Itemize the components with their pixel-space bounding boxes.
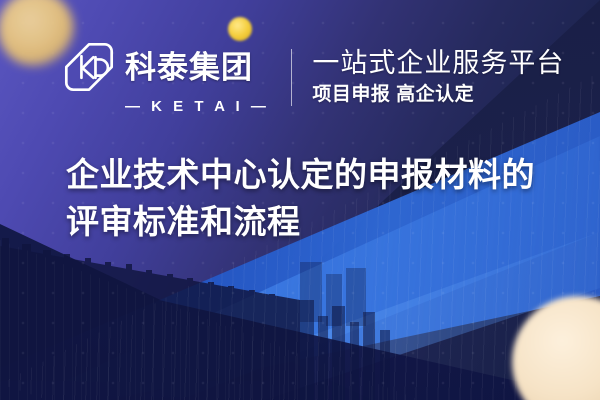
- promotional-banner: 科泰集团 — K E T A I — 一站式企业服务平台 项目申报 高企认定 企…: [0, 0, 600, 400]
- gold-dot-circle-icon: [228, 17, 252, 41]
- brand-name-en: — K E T A I —: [125, 99, 269, 114]
- banner-headline: 企业技术中心认定的申报材料的评审标准和流程: [66, 152, 544, 246]
- tagline-primary: 一站式企业服务平台: [312, 48, 564, 79]
- banner-header: 科泰集团 — K E T A I — 一站式企业服务平台 项目申报 高企认定: [62, 40, 564, 114]
- ketai-diamond-logo-icon: [62, 40, 116, 94]
- brand-tagline: 一站式企业服务平台 项目申报 高企认定: [312, 48, 564, 106]
- header-divider: [291, 49, 292, 106]
- brand-logo-row: 科泰集团: [62, 40, 253, 94]
- brand-name-cn: 科泰集团: [125, 52, 253, 83]
- brand-logo: 科泰集团 — K E T A I —: [62, 40, 269, 114]
- tagline-secondary: 项目申报 高企认定: [312, 84, 564, 106]
